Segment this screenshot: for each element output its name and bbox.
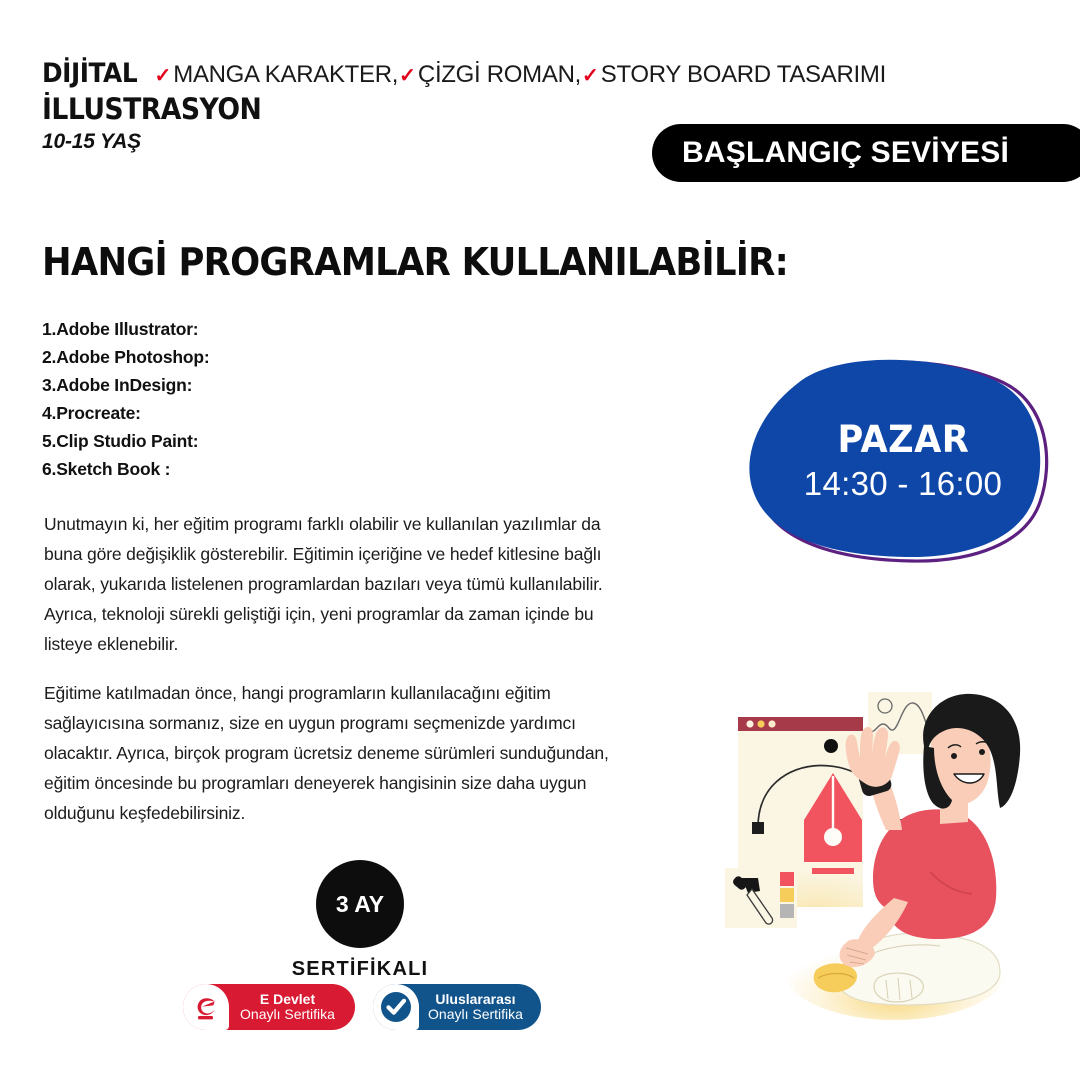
topic-label-3: STORY BOARD TASARIMI — [601, 61, 886, 89]
swatch-gray — [780, 904, 794, 918]
duration-badge-label: 3 AY — [336, 891, 384, 918]
description-paragraph-2: Eğitime katılmadan önce, hangi programla… — [44, 678, 629, 828]
description-paragraph-1: Unutmayın ki, her eğitim programı farklı… — [44, 509, 629, 659]
poster-root: DİJİTAL ✓ MANGA KARAKTER, ✓ ÇİZGİ ROMAN,… — [0, 0, 1080, 1080]
designer-woman-illustration — [700, 672, 1072, 1044]
topic-label-2: ÇİZGİ ROMAN, — [418, 61, 581, 89]
certificate-title: Uluslararası — [428, 992, 523, 1007]
swatch-red — [780, 872, 794, 886]
certificate-badges: E Devlet Onaylı Sertifika Uluslararası O… — [183, 984, 541, 1030]
list-item: 2.Adobe Photoshop: — [42, 343, 210, 371]
schedule-blob: PAZAR 14:30 - 16:00 — [748, 358, 1058, 563]
certificate-text-edevlet: E Devlet Onaylı Sertifika — [238, 992, 337, 1022]
anchor-point-top — [824, 739, 838, 753]
check-circle-icon — [373, 984, 419, 1030]
schedule-day: PAZAR — [837, 418, 969, 461]
brand-primary: DİJİTAL — [42, 58, 137, 89]
e-devlet-logo-icon — [183, 984, 229, 1030]
certificate-title: E Devlet — [238, 992, 337, 1007]
anchor-point-left — [752, 822, 764, 834]
list-item: 6.Sketch Book : — [42, 455, 210, 483]
age-range-label: 10-15 YAŞ — [42, 130, 141, 154]
certificate-subtitle: Onaylı Sertifika — [428, 1007, 523, 1022]
list-item: 5.Clip Studio Paint: — [42, 427, 210, 455]
check-icon-2: ✓ — [399, 66, 416, 86]
check-icon-1: ✓ — [154, 66, 171, 86]
page-title: HANGİ PROGRAMLAR KULLANILABİLİR: — [42, 240, 788, 284]
certificate-badge-edevlet: E Devlet Onaylı Sertifika — [183, 984, 355, 1030]
list-item: 3.Adobe InDesign: — [42, 371, 210, 399]
header-topics-line: DİJİTAL ✓ MANGA KARAKTER, ✓ ÇİZGİ ROMAN,… — [42, 58, 886, 89]
duration-badge: 3 AY — [316, 860, 404, 948]
program-list: 1.Adobe Illustrator: 2.Adobe Photoshop: … — [42, 315, 210, 483]
certificate-badge-international: Uluslararası Onaylı Sertifika — [373, 984, 541, 1030]
level-badge-label: BAŞLANGIÇ SEVİYESİ — [682, 136, 1009, 170]
check-icon-3: ✓ — [582, 66, 599, 86]
eyedropper-card — [725, 868, 797, 928]
swatch-yellow — [780, 888, 794, 902]
topic-label-1: MANGA KARAKTER, — [173, 61, 398, 89]
browser-title-bar — [738, 717, 863, 731]
schedule-text: PAZAR 14:30 - 16:00 — [748, 358, 1058, 563]
certificate-text-international: Uluslararası Onaylı Sertifika — [428, 992, 523, 1022]
list-item: 4.Procreate: — [42, 399, 210, 427]
level-badge: BAŞLANGIÇ SEVİYESİ — [652, 124, 1080, 182]
schedule-time: 14:30 - 16:00 — [804, 465, 1002, 503]
certified-label: SERTİFİKALI — [0, 958, 720, 981]
brand-secondary: İLLUSTRASYON — [42, 92, 261, 126]
list-item: 1.Adobe Illustrator: — [42, 315, 210, 343]
certificate-subtitle: Onaylı Sertifika — [238, 1007, 337, 1022]
